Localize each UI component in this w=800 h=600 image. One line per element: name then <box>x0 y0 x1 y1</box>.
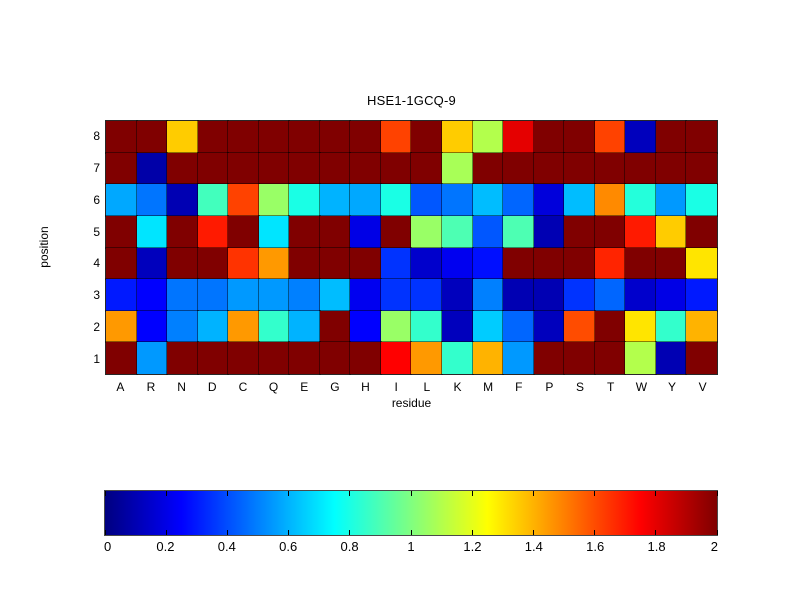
heatmap-cell <box>595 311 626 343</box>
heatmap-cell <box>228 248 259 280</box>
heatmap-cell <box>289 153 320 185</box>
heatmap-cell <box>411 311 442 343</box>
x-tick-label: Y <box>657 379 688 397</box>
heatmap-cell <box>259 311 290 343</box>
heatmap-cell <box>106 121 137 153</box>
heatmap-cell <box>625 279 656 311</box>
x-tick-label: D <box>197 379 228 397</box>
heatmap-cell <box>411 342 442 374</box>
heatmap-cell <box>228 184 259 216</box>
heatmap-cell <box>625 153 656 185</box>
heatmap-cell <box>198 342 229 374</box>
y-tick-label: 8 <box>93 129 100 143</box>
heatmap-cell <box>137 342 168 374</box>
heatmap-cell <box>473 121 504 153</box>
colorbar-tick-label: 1.6 <box>586 539 604 554</box>
heatmap-cell <box>625 184 656 216</box>
heatmap-cell <box>595 342 626 374</box>
x-tick-label: F <box>503 379 534 397</box>
heatmap-cell <box>656 121 687 153</box>
heatmap-cell <box>106 279 137 311</box>
heatmap-cell <box>198 279 229 311</box>
heatmap-cell <box>564 342 595 374</box>
colorbar-tick-label: 0.4 <box>218 539 236 554</box>
heatmap-cell <box>350 279 381 311</box>
heatmap-cell <box>198 121 229 153</box>
heatmap-cell <box>106 342 137 374</box>
heatmap-cell <box>381 121 412 153</box>
heatmap-cell <box>137 216 168 248</box>
heatmap-cell <box>289 279 320 311</box>
y-tick-label: 2 <box>93 320 100 334</box>
heatmap-cell <box>137 279 168 311</box>
heatmap-cell <box>503 184 534 216</box>
heatmap-cell <box>503 311 534 343</box>
heatmap-cell <box>350 153 381 185</box>
heatmap-cell <box>228 342 259 374</box>
heatmap-cell <box>411 153 442 185</box>
heatmap-cell <box>137 121 168 153</box>
heatmap-cell <box>686 153 717 185</box>
heatmap-cell <box>564 279 595 311</box>
heatmap-cell <box>289 121 320 153</box>
heatmap-cell <box>137 184 168 216</box>
heatmap-cell <box>167 342 198 374</box>
heatmap-cell <box>625 342 656 374</box>
heatmap-cell <box>350 121 381 153</box>
heatmap-cell <box>686 311 717 343</box>
heatmap-cell <box>411 216 442 248</box>
y-tick-label: 5 <box>93 225 100 239</box>
heatmap-cell <box>564 121 595 153</box>
heatmap-cell <box>320 121 351 153</box>
heatmap-cell <box>686 216 717 248</box>
x-tick-label: C <box>228 379 259 397</box>
heatmap-cell <box>595 121 626 153</box>
heatmap-cell <box>442 342 473 374</box>
heatmap-cell <box>656 311 687 343</box>
heatmap-cell <box>167 153 198 185</box>
heatmap-cell <box>656 216 687 248</box>
heatmap-cell <box>503 342 534 374</box>
heatmap-cell <box>595 216 626 248</box>
x-tick-label: G <box>320 379 351 397</box>
heatmap-cell <box>595 153 626 185</box>
heatmap-cell <box>106 311 137 343</box>
heatmap-cell <box>320 184 351 216</box>
heatmap-cell <box>534 342 565 374</box>
heatmap-cell <box>534 121 565 153</box>
x-tick-label: N <box>166 379 197 397</box>
x-axis-title: residue <box>105 396 718 410</box>
heatmap-cell <box>503 121 534 153</box>
heatmap-cell <box>473 342 504 374</box>
colorbar-tick-label: 1.4 <box>525 539 543 554</box>
heatmap-cell <box>289 216 320 248</box>
heatmap-cell <box>442 216 473 248</box>
heatmap-cell <box>320 342 351 374</box>
heatmap-cell <box>686 342 717 374</box>
y-axis-tick-labels: 12345678 <box>78 120 100 375</box>
heatmap-cell <box>259 153 290 185</box>
heatmap-cell <box>686 279 717 311</box>
y-tick-label: 1 <box>93 352 100 366</box>
x-axis-tick-labels: ARNDCQEGHILKMFPSTWYV <box>105 379 718 397</box>
colorbar-tick-label: 0.8 <box>341 539 359 554</box>
colorbar-gradient <box>105 491 717 535</box>
heatmap-cell <box>656 248 687 280</box>
heatmap-cell <box>595 184 626 216</box>
heatmap-cell <box>534 153 565 185</box>
y-tick-label: 7 <box>93 161 100 175</box>
heatmap-cell <box>228 153 259 185</box>
heatmap-cell <box>411 248 442 280</box>
heatmap-cell <box>167 216 198 248</box>
heatmap-cell <box>228 311 259 343</box>
heatmap-cell <box>534 279 565 311</box>
colorbar-tick-label: 1.8 <box>648 539 666 554</box>
colorbar-tick-label: 1.2 <box>463 539 481 554</box>
figure-canvas: HSE1-1GCQ-9 position 12345678 ARNDCQEGHI… <box>0 0 800 600</box>
x-tick-label: W <box>626 379 657 397</box>
heatmap-cell <box>198 311 229 343</box>
chart-title: HSE1-1GCQ-9 <box>105 93 718 108</box>
heatmap-cell <box>503 153 534 185</box>
heatmap-cell <box>350 184 381 216</box>
heatmap-cell <box>503 216 534 248</box>
heatmap-cell <box>320 216 351 248</box>
heatmap-cell <box>656 342 687 374</box>
heatmap-cell <box>350 248 381 280</box>
heatmap-cell <box>259 121 290 153</box>
heatmap-cell <box>442 153 473 185</box>
x-tick-label: E <box>289 379 320 397</box>
heatmap-cell <box>503 279 534 311</box>
heatmap-cell <box>198 248 229 280</box>
heatmap-cell <box>442 248 473 280</box>
heatmap-cell <box>625 121 656 153</box>
x-tick-label: H <box>350 379 381 397</box>
heatmap-cell <box>259 342 290 374</box>
heatmap-axes <box>105 120 718 375</box>
heatmap-cell <box>259 279 290 311</box>
colorbar-tick-label: 0 <box>104 539 111 554</box>
heatmap-cell <box>350 342 381 374</box>
x-tick-label: T <box>595 379 626 397</box>
heatmap-cell <box>656 184 687 216</box>
heatmap-cell <box>473 311 504 343</box>
heatmap-cell <box>381 153 412 185</box>
colorbar-tick-label: 1 <box>407 539 414 554</box>
heatmap-cell <box>137 248 168 280</box>
heatmap-cell <box>625 311 656 343</box>
heatmap-cell <box>473 248 504 280</box>
heatmap-cell <box>381 184 412 216</box>
heatmap-cell <box>411 279 442 311</box>
x-tick-label: K <box>442 379 473 397</box>
heatmap-cell <box>198 216 229 248</box>
heatmap-cell <box>564 216 595 248</box>
x-tick-label: V <box>687 379 718 397</box>
heatmap-cell <box>473 279 504 311</box>
heatmap-cell <box>320 248 351 280</box>
x-tick-label: I <box>381 379 412 397</box>
heatmap-cell <box>106 184 137 216</box>
heatmap-cell <box>411 184 442 216</box>
heatmap-cell <box>503 248 534 280</box>
heatmap-cell <box>656 153 687 185</box>
heatmap-cell <box>289 311 320 343</box>
heatmap-cell <box>534 184 565 216</box>
heatmap-cell <box>106 248 137 280</box>
heatmap-cell <box>167 121 198 153</box>
heatmap-cell <box>442 311 473 343</box>
heatmap-cell <box>442 184 473 216</box>
heatmap-cell <box>167 311 198 343</box>
colorbar-tick-labels: 00.20.40.60.811.21.41.61.82 <box>104 539 718 557</box>
heatmap-cell <box>442 279 473 311</box>
heatmap-cell <box>564 153 595 185</box>
x-tick-label: R <box>136 379 167 397</box>
y-tick-label: 6 <box>93 193 100 207</box>
heatmap-cell <box>381 248 412 280</box>
heatmap-cell <box>350 311 381 343</box>
colorbar-tick-label: 0.2 <box>156 539 174 554</box>
heatmap-cell <box>381 279 412 311</box>
heatmap-cell <box>381 216 412 248</box>
heatmap-cell <box>137 311 168 343</box>
colorbar <box>104 490 718 536</box>
heatmap-cell <box>228 279 259 311</box>
heatmap-cell <box>137 153 168 185</box>
heatmap-cell <box>473 216 504 248</box>
heatmap-cell <box>198 153 229 185</box>
x-tick-label: M <box>473 379 504 397</box>
heatmap-cell <box>320 153 351 185</box>
y-axis-title: position <box>37 226 51 267</box>
x-tick-label: A <box>105 379 136 397</box>
heatmap-cell <box>686 248 717 280</box>
heatmap-cell <box>473 153 504 185</box>
heatmap-cell <box>442 121 473 153</box>
heatmap-cell <box>167 248 198 280</box>
heatmap-cell <box>259 248 290 280</box>
heatmap-cell <box>320 279 351 311</box>
heatmap-cell <box>625 248 656 280</box>
heatmap-cell <box>595 248 626 280</box>
heatmap-cell <box>656 279 687 311</box>
heatmap-cell <box>289 184 320 216</box>
colorbar-tick-label: 2 <box>711 539 718 554</box>
x-tick-label: L <box>411 379 442 397</box>
heatmap-cell <box>381 311 412 343</box>
heatmap-cell <box>198 184 229 216</box>
heatmap-cell <box>564 311 595 343</box>
heatmap-cell <box>381 342 412 374</box>
heatmap-cell <box>625 216 656 248</box>
heatmap-cell <box>259 216 290 248</box>
heatmap-cell <box>534 248 565 280</box>
heatmap-cell <box>595 279 626 311</box>
heatmap-cell <box>686 184 717 216</box>
heatmap-cell <box>167 184 198 216</box>
heatmap-cell <box>564 248 595 280</box>
heatmap-grid <box>106 121 717 374</box>
heatmap-cell <box>473 184 504 216</box>
heatmap-cell <box>106 216 137 248</box>
x-tick-label: S <box>565 379 596 397</box>
heatmap-cell <box>411 121 442 153</box>
heatmap-cell <box>534 216 565 248</box>
heatmap-cell <box>534 311 565 343</box>
heatmap-cell <box>564 184 595 216</box>
heatmap-cell <box>228 216 259 248</box>
heatmap-cell <box>228 121 259 153</box>
x-tick-label: P <box>534 379 565 397</box>
heatmap-cell <box>320 311 351 343</box>
heatmap-cell <box>289 342 320 374</box>
x-tick-label: Q <box>258 379 289 397</box>
heatmap-cell <box>289 248 320 280</box>
heatmap-cell <box>167 279 198 311</box>
heatmap-cell <box>106 153 137 185</box>
y-tick-label: 3 <box>93 288 100 302</box>
heatmap-cell <box>350 216 381 248</box>
colorbar-tick-label: 0.6 <box>279 539 297 554</box>
heatmap-cell <box>686 121 717 153</box>
heatmap-cell <box>259 184 290 216</box>
y-tick-label: 4 <box>93 256 100 270</box>
